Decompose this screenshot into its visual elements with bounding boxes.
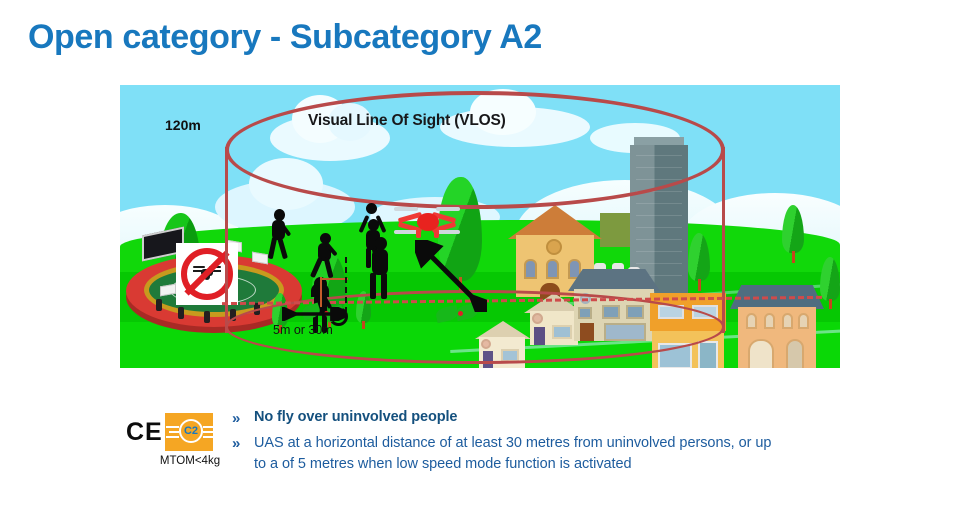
vertical-distance-arrow-icon	[415, 240, 487, 312]
footer-requirements: CE C2 MTOM<4kg » No fly over uninvolved …	[120, 400, 880, 510]
tree-crown	[688, 233, 710, 281]
cypress-tree-icon	[688, 233, 710, 291]
page-title: Open category - Subcategory A2	[28, 18, 542, 57]
bullet-text-primary: No fly over uninvolved people	[254, 408, 457, 428]
person-leg	[366, 248, 371, 268]
window	[764, 313, 775, 329]
reference-dashed-line	[345, 257, 347, 313]
drone-icon	[396, 203, 458, 237]
badge-wing	[169, 431, 179, 433]
drone-rotor	[193, 266, 205, 268]
badge-wing	[203, 431, 213, 433]
class-label: C2	[184, 426, 198, 437]
horizontal-distance-arrow-icon	[282, 307, 346, 321]
cypress-tree-icon	[820, 257, 840, 309]
tree-trunk	[829, 299, 832, 309]
stand-entry	[156, 299, 162, 311]
chevron-right-icon: »	[232, 433, 254, 454]
ce-marking: CE	[126, 418, 163, 447]
badge-circle: C2	[179, 419, 203, 443]
class-c2-badge: C2	[165, 413, 213, 451]
drone-leg	[416, 229, 421, 238]
bullet-list: » No fly over uninvolved people » UAS at…	[232, 408, 872, 478]
list-item: » UAS at a horizontal distance of at lea…	[232, 433, 872, 474]
tree-crown	[782, 205, 804, 253]
distance-label: 5m or 30m	[273, 323, 333, 337]
ball	[366, 203, 377, 214]
stand-entry	[178, 307, 184, 319]
vlos-label: Visual Line Of Sight (VLOS)	[308, 112, 506, 130]
badge-wing	[203, 426, 216, 428]
vlos-cylinder-right-edge	[722, 147, 725, 333]
list-item: » No fly over uninvolved people	[232, 408, 872, 429]
roof	[508, 205, 602, 239]
arched-window	[748, 339, 774, 368]
bullet-text-secondary: UAS at a horizontal distance of at least…	[254, 433, 774, 474]
shop-door	[698, 341, 718, 368]
roof	[568, 269, 660, 291]
drone-operation-illustration: Visual Line Of Sight (VLOS) 120m	[120, 85, 840, 368]
window	[798, 313, 809, 329]
window	[746, 313, 757, 329]
person-leg	[370, 273, 376, 299]
drone-leg	[434, 229, 439, 238]
badge-wing	[203, 436, 216, 438]
stand-entry	[204, 311, 210, 323]
window	[524, 259, 537, 279]
drone-rotor	[394, 207, 418, 211]
tree-trunk	[698, 279, 701, 291]
height-label: 120m	[165, 117, 201, 133]
drone-rotor	[436, 207, 460, 211]
badge-wing	[166, 436, 179, 438]
no-drone-sign	[176, 243, 238, 305]
window	[782, 313, 793, 329]
chevron-right-icon: »	[232, 408, 254, 429]
arched-window	[786, 339, 804, 368]
cypress-tree-icon	[782, 205, 804, 263]
tree-trunk	[792, 251, 795, 263]
fence-rail	[320, 278, 348, 280]
tree-crown	[820, 257, 840, 301]
window	[546, 259, 559, 279]
badge-wing	[166, 426, 179, 428]
drone-rotor	[394, 230, 418, 234]
mtom-label: MTOM<4kg	[150, 455, 230, 467]
fence-post	[320, 277, 322, 307]
person-leg	[381, 273, 387, 299]
person-torso	[372, 249, 388, 275]
vlos-cylinder-top	[225, 91, 725, 209]
drone-rotor	[436, 230, 460, 234]
round-window	[546, 239, 562, 255]
